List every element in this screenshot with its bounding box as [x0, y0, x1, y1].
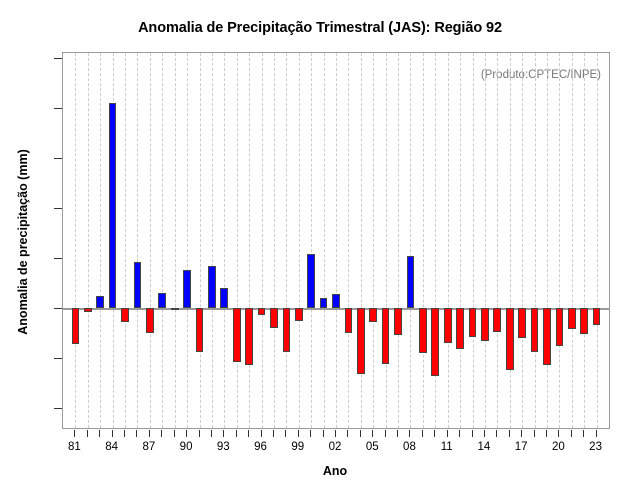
bar-2020	[556, 308, 564, 346]
grid-line	[286, 53, 287, 428]
bar-2012	[456, 308, 464, 349]
bar-1994	[233, 308, 241, 362]
bar-2007	[394, 308, 402, 335]
grid-line	[348, 53, 349, 428]
x-tick	[87, 430, 88, 437]
x-axis-ticks: 818487909396990205081114172023	[62, 430, 610, 460]
x-tick	[521, 430, 522, 437]
x-tick	[472, 430, 473, 437]
x-tick	[298, 430, 299, 437]
bar-2006	[382, 308, 390, 364]
grid-line	[224, 53, 225, 428]
bar-2018	[531, 308, 539, 352]
bar-2002	[332, 294, 340, 308]
grid-line	[373, 53, 374, 428]
x-tick	[347, 430, 348, 437]
x-tick-label: 90	[166, 441, 206, 453]
grid-line	[88, 53, 89, 428]
x-tick-label: 96	[241, 441, 281, 453]
x-tick	[248, 430, 249, 437]
precipitation-anomaly-chart: Anomalia de Precipitação Trimestral (JAS…	[0, 0, 640, 500]
x-tick	[310, 430, 311, 437]
grid-line	[187, 53, 188, 428]
y-tick	[54, 108, 62, 109]
grid-line	[448, 53, 449, 428]
bar-1982	[84, 308, 92, 312]
grid-line	[311, 53, 312, 428]
grid-line	[150, 53, 151, 428]
bar-1998	[283, 308, 291, 352]
bar-2005	[369, 308, 377, 322]
x-tick-label: 05	[352, 441, 392, 453]
x-tick	[422, 430, 423, 437]
x-tick	[596, 430, 597, 437]
y-tick	[54, 358, 62, 359]
x-tick	[459, 430, 460, 437]
bar-1981	[72, 308, 80, 344]
grid-line	[386, 53, 387, 428]
bar-1992	[208, 266, 216, 308]
x-tick-label: 99	[278, 441, 318, 453]
x-tick	[199, 430, 200, 437]
grid-line	[559, 53, 560, 428]
grid-line	[162, 53, 163, 428]
grid-line	[212, 53, 213, 428]
grid-line	[237, 53, 238, 428]
grid-line	[75, 53, 76, 428]
grid-line	[522, 53, 523, 428]
x-tick-label: 87	[129, 441, 169, 453]
grid-line	[473, 53, 474, 428]
grid-line	[410, 53, 411, 428]
x-tick-label: 81	[54, 441, 94, 453]
x-tick	[261, 430, 262, 437]
y-tick	[54, 158, 62, 159]
x-tick	[447, 430, 448, 437]
bar-1988	[158, 293, 166, 308]
x-tick	[223, 430, 224, 437]
x-axis-label: Ano	[60, 464, 610, 478]
bar-2015	[493, 308, 501, 332]
bar-2004	[357, 308, 365, 374]
grid-line	[460, 53, 461, 428]
x-tick	[273, 430, 274, 437]
x-tick	[211, 430, 212, 437]
bar-1987	[146, 308, 154, 333]
grid-line	[584, 53, 585, 428]
x-tick	[360, 430, 361, 437]
grid-line	[200, 53, 201, 428]
bar-1996	[258, 308, 266, 315]
grid-line	[249, 53, 250, 428]
plot-area: (Produto:CPTEC/INPE)	[62, 52, 610, 429]
bar-1999	[295, 308, 303, 321]
bar-2009	[419, 308, 427, 353]
x-tick	[236, 430, 237, 437]
x-tick	[583, 430, 584, 437]
grid-line	[100, 53, 101, 428]
grid-line	[324, 53, 325, 428]
grid-line	[274, 53, 275, 428]
x-tick	[335, 430, 336, 437]
x-tick	[112, 430, 113, 437]
x-tick	[99, 430, 100, 437]
bar-1985	[121, 308, 129, 322]
grid-line	[572, 53, 573, 428]
x-tick-label: 14	[464, 441, 504, 453]
x-tick-label: 23	[576, 441, 616, 453]
bar-1983	[96, 296, 104, 308]
y-tick	[54, 58, 62, 59]
x-tick	[385, 430, 386, 437]
bar-2022	[580, 308, 588, 334]
x-tick	[546, 430, 547, 437]
x-tick-label: 93	[203, 441, 243, 453]
grid-line	[535, 53, 536, 428]
bar-1995	[245, 308, 253, 365]
bar-1991	[196, 308, 204, 352]
x-tick	[434, 430, 435, 437]
source-annotation: (Produto:CPTEC/INPE)	[481, 69, 601, 81]
x-tick	[571, 430, 572, 437]
x-tick	[558, 430, 559, 437]
x-tick	[124, 430, 125, 437]
bar-2011	[444, 308, 452, 343]
grid-line	[497, 53, 498, 428]
x-tick	[149, 430, 150, 437]
grid-line	[137, 53, 138, 428]
grid-line	[299, 53, 300, 428]
x-tick	[496, 430, 497, 437]
x-tick-label: 84	[92, 441, 132, 453]
x-tick-label: 08	[389, 441, 429, 453]
grid-line	[336, 53, 337, 428]
x-tick	[136, 430, 137, 437]
x-tick-label: 20	[538, 441, 578, 453]
grid-line	[510, 53, 511, 428]
bar-1984	[109, 103, 117, 308]
grid-line	[597, 53, 598, 428]
x-tick	[534, 430, 535, 437]
x-tick	[161, 430, 162, 437]
bar-2000	[307, 254, 315, 308]
bar-1993	[220, 288, 228, 308]
x-tick-label: 11	[427, 441, 467, 453]
x-tick	[484, 430, 485, 437]
bar-2013	[469, 308, 477, 337]
bar-2008	[407, 256, 415, 308]
x-tick-label: 17	[501, 441, 541, 453]
x-tick	[409, 430, 410, 437]
grid-line	[423, 53, 424, 428]
zero-line	[63, 308, 609, 310]
x-tick	[186, 430, 187, 437]
x-tick	[397, 430, 398, 437]
grid-line	[547, 53, 548, 428]
y-tick	[54, 308, 62, 309]
bar-2019	[543, 308, 551, 365]
grid-line	[175, 53, 176, 428]
bar-2023	[593, 308, 601, 325]
bar-2003	[345, 308, 353, 333]
x-tick-label: 02	[315, 441, 355, 453]
x-tick	[285, 430, 286, 437]
x-tick	[74, 430, 75, 437]
y-tick	[54, 258, 62, 259]
x-tick	[174, 430, 175, 437]
grid-line	[262, 53, 263, 428]
bar-2017	[518, 308, 526, 338]
y-tick	[54, 408, 62, 409]
bar-1989	[171, 308, 179, 310]
bar-2010	[431, 308, 439, 376]
grid-line	[485, 53, 486, 428]
chart-title: Anomalia de Precipitação Trimestral (JAS…	[0, 20, 640, 36]
bar-1997	[270, 308, 278, 328]
grid-line	[398, 53, 399, 428]
x-tick	[372, 430, 373, 437]
x-tick	[323, 430, 324, 437]
grid-line	[125, 53, 126, 428]
y-axis-label: Anomalia de precipitação (mm)	[16, 112, 30, 372]
bar-2021	[568, 308, 576, 329]
bar-2001	[320, 298, 328, 308]
y-tick	[54, 208, 62, 209]
bar-2014	[481, 308, 489, 341]
bar-1990	[183, 270, 191, 308]
bar-2016	[506, 308, 514, 370]
bar-1986	[134, 262, 142, 308]
x-tick	[509, 430, 510, 437]
